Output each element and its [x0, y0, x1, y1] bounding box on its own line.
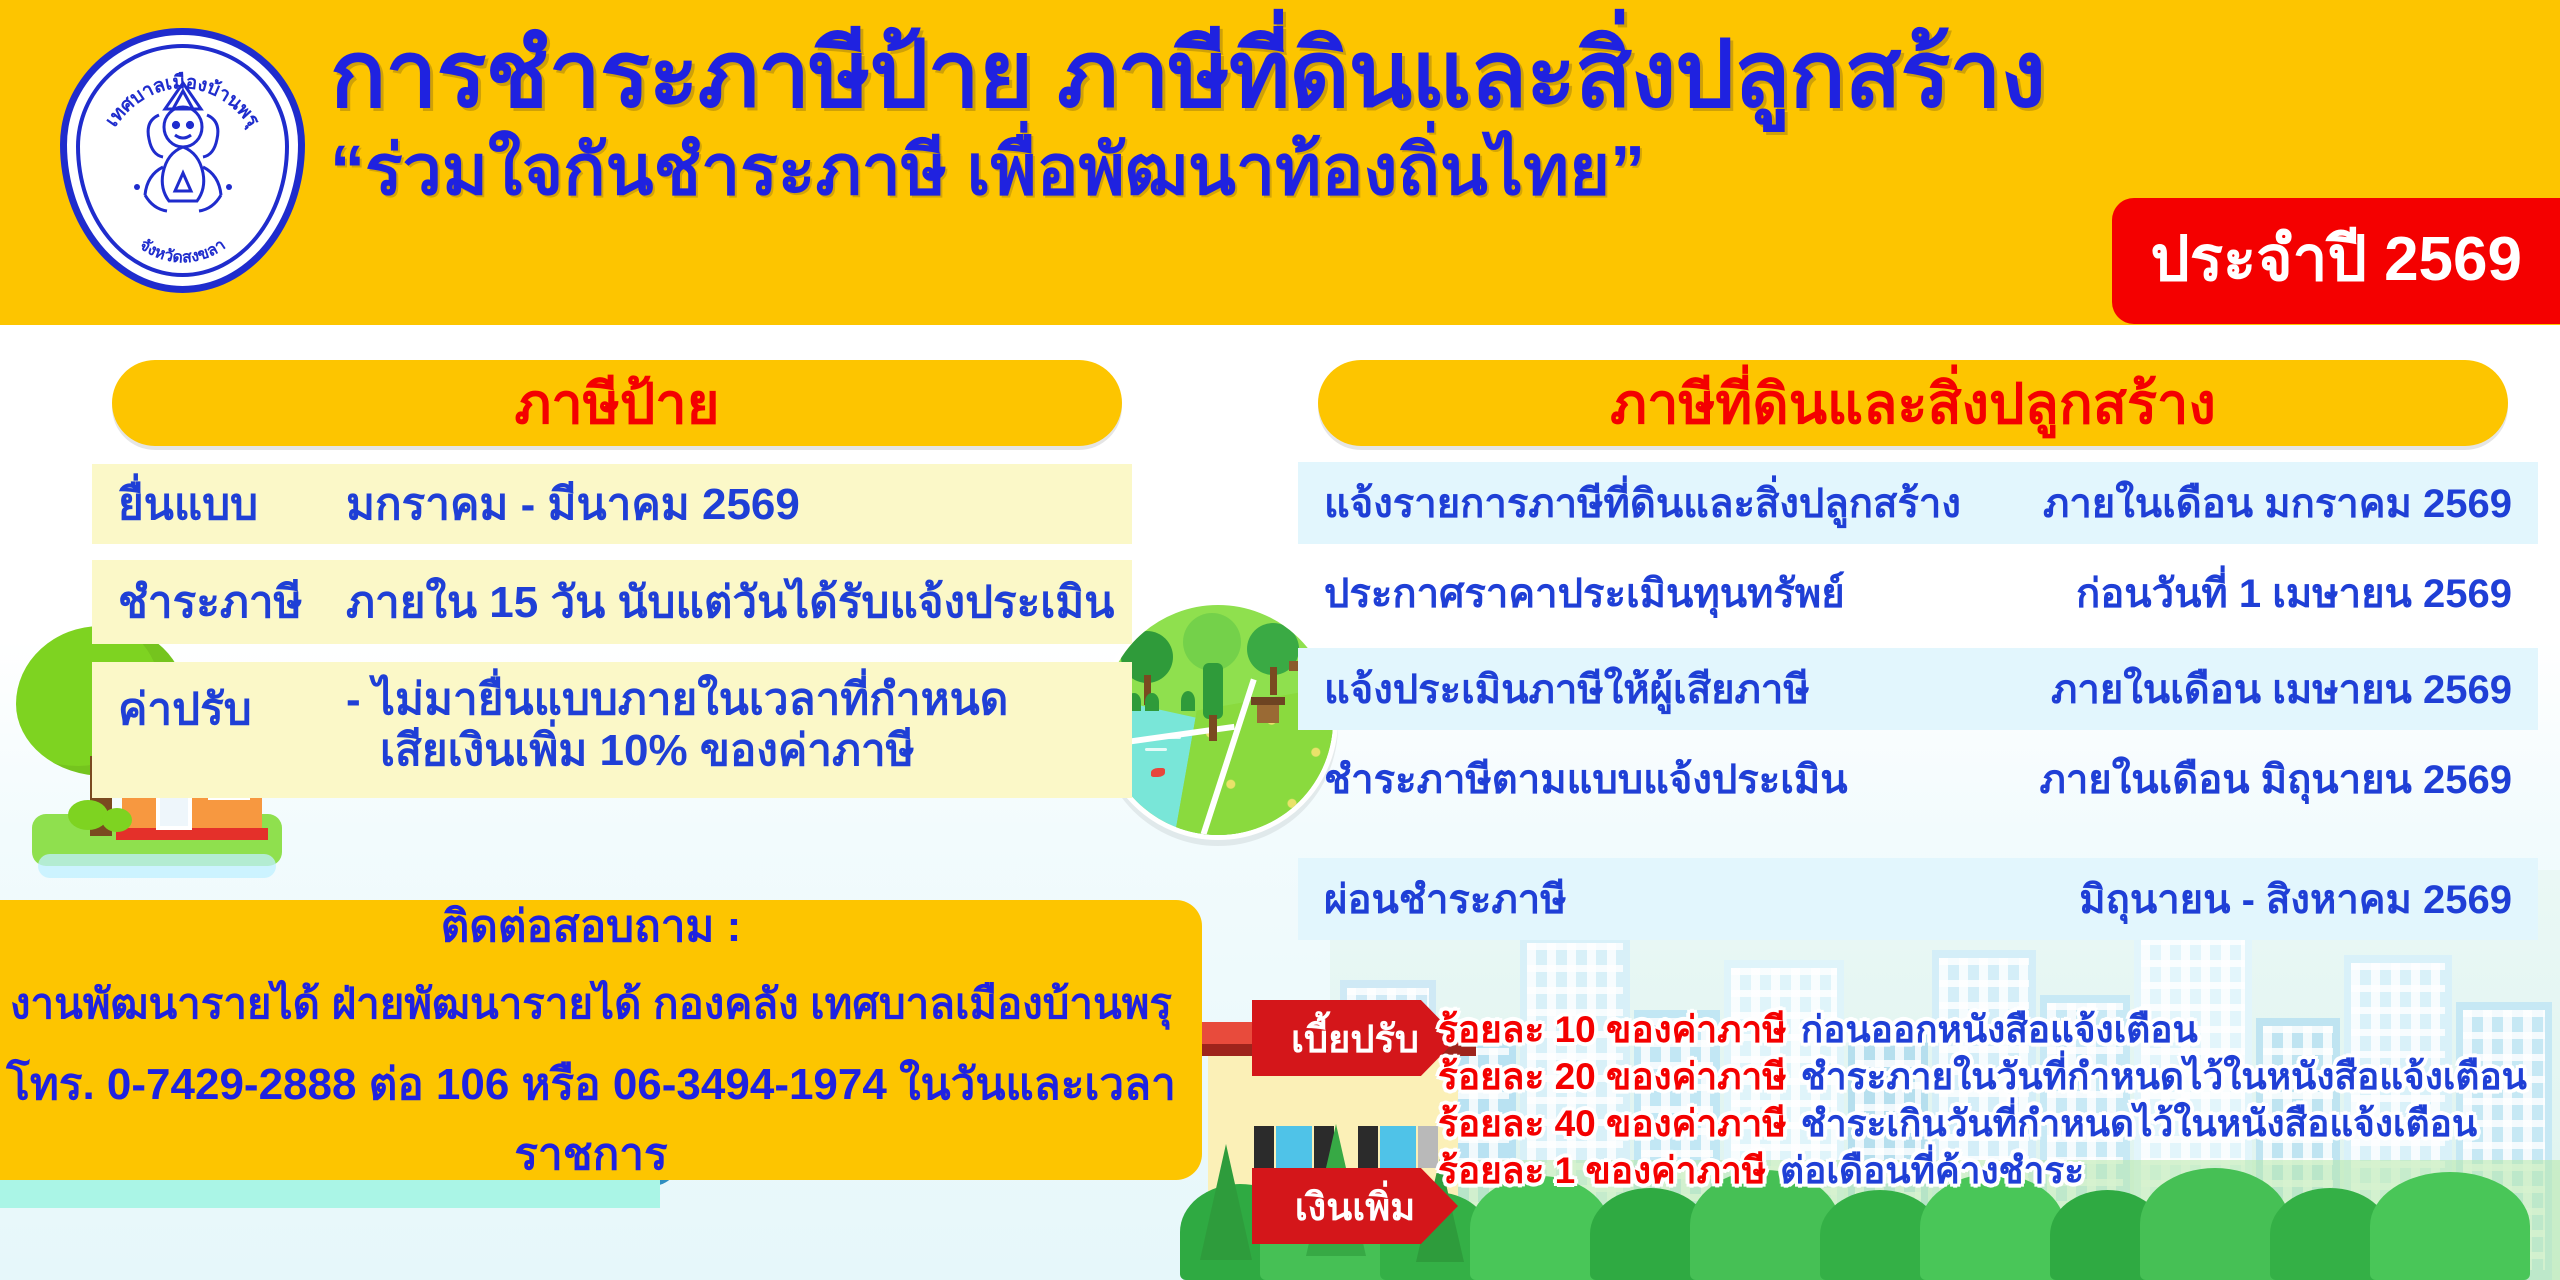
header-text-block: การชำระภาษีป้าย ภาษีที่ดินและสิ่งปลูกสร้…	[330, 26, 2290, 209]
land-tax-row-value: ภายในเดือน เมษายน 2569	[2051, 657, 2512, 721]
tag-penalty-label: เบี้ยปรับ	[1291, 1008, 1419, 1069]
penalty-rate-condition: ต่อเดือนที่ค้างชำระ	[1780, 1141, 2084, 1200]
tag-surcharge: เงินเพิ่ม	[1252, 1168, 1458, 1244]
page-title: การชำระภาษีป้าย ภาษีที่ดินและสิ่งปลูกสร้…	[330, 26, 2290, 124]
sign-tax-row: ค่าปรับ - ไม่มายื่นแบบภายในเวลาที่กำหนด …	[92, 662, 1132, 798]
header-banner: เทศบาลเมืองบ้านพรุ จังหวัดสงขลา	[0, 0, 2560, 325]
land-tax-row-value: ภายในเดือน มิถุนายน 2569	[2039, 747, 2512, 811]
sign-tax-row-label: ยื่นแบบ	[118, 469, 346, 539]
year-badge: ประจำปี 2569	[2112, 198, 2560, 324]
section-heading-sign-tax: ภาษีป้าย	[112, 360, 1122, 446]
section-heading-sign-tax-label: ภาษีป้าย	[514, 359, 719, 448]
section-heading-land-tax: ภาษีที่ดินและสิ่งปลูกสร้าง	[1318, 360, 2508, 446]
sign-tax-row-label: ชำระภาษี	[118, 567, 346, 637]
land-tax-row: ประกาศราคาประเมินทุนทรัพย์ ก่อนวันที่ 1 …	[1298, 552, 2538, 634]
sign-tax-row-value: - ไม่มายื่นแบบภายในเวลาที่กำหนด เสียเงิน…	[346, 674, 1008, 776]
sign-tax-row-value: ภายใน 15 วัน นับแต่วันได้รับแจ้งประเมิน	[346, 567, 1114, 637]
page-subtitle: “ร่วมใจกันชำระภาษี เพื่อพัฒนาท้องถิ่นไทย…	[330, 132, 2290, 209]
sign-tax-row-value: มกราคม - มีนาคม 2569	[346, 469, 800, 539]
sign-tax-row-value-line2: เสียเงินเพิ่ม 10% ของค่าภาษี	[380, 725, 1008, 776]
sign-tax-row: ยื่นแบบ มกราคม - มีนาคม 2569	[92, 464, 1132, 544]
penalty-rate-row: ร้อยละ 10 ของค่าภาษี ก่อนออกหนังสือแจ้งเ…	[1438, 1000, 2558, 1047]
land-tax-row-label: แจ้งประเมินภาษีให้ผู้เสียภาษี	[1324, 657, 1810, 721]
land-tax-row-label: ชำระภาษีตามแบบแจ้งประเมิน	[1324, 747, 1848, 811]
land-tax-row-label: ผ่อนชำระภาษี	[1324, 867, 1567, 931]
land-tax-row-value: ก่อนวันที่ 1 เมษายน 2569	[2076, 561, 2512, 625]
sign-tax-row: ชำระภาษี ภายใน 15 วัน นับแต่วันได้รับแจ้…	[92, 560, 1132, 644]
svg-text:จังหวัดสงขลา: จังหวัดสงขลา	[136, 236, 228, 267]
contact-box: ติดต่อสอบถาม : งานพัฒนารายได้ ฝ่ายพัฒนาร…	[0, 900, 1202, 1180]
penalty-rate-percent: ร้อยละ 1 ของค่าภาษี	[1438, 1141, 1766, 1200]
penalty-rate-row: ร้อยละ 40 ของค่าภาษี ชำระเกินวันที่กำหนด…	[1438, 1094, 2558, 1141]
contact-office: งานพัฒนารายได้ ฝ่ายพัฒนารายได้ กองคลัง เ…	[10, 971, 1172, 1037]
section-heading-land-tax-label: ภาษีที่ดินและสิ่งปลูกสร้าง	[1610, 359, 2216, 448]
land-tax-row: ชำระภาษีตามแบบแจ้งประเมิน ภายในเดือน มิถ…	[1298, 738, 2538, 820]
tag-surcharge-label: เงินเพิ่ม	[1295, 1176, 1416, 1237]
penalty-rate-list: ร้อยละ 10 ของค่าภาษี ก่อนออกหนังสือแจ้งเ…	[1438, 1000, 2558, 1190]
land-tax-row-label: ประกาศราคาประเมินทุนทรัพย์	[1324, 561, 1845, 625]
contact-heading: ติดต่อสอบถาม :	[441, 891, 742, 961]
land-tax-row: แจ้งประเมินภาษีให้ผู้เสียภาษี ภายในเดือน…	[1298, 648, 2538, 730]
land-tax-row: แจ้งรายการภาษีที่ดินและสิ่งปลูกสร้าง ภาย…	[1298, 462, 2538, 544]
municipal-seal-logo: เทศบาลเมืองบ้านพรุ จังหวัดสงขลา	[60, 28, 305, 293]
contact-phone: โทร. 0-7429-2888 ต่อ 106 หรือ 06-3494-19…	[0, 1049, 1202, 1189]
land-tax-row-value: มิถุนายน - สิงหาคม 2569	[2079, 867, 2512, 931]
sign-tax-row-value-line1: - ไม่มายื่นแบบภายในเวลาที่กำหนด	[346, 674, 1008, 725]
land-tax-row-label: แจ้งรายการภาษีที่ดินและสิ่งปลูกสร้าง	[1324, 471, 1961, 535]
tag-penalty: เบี้ยปรับ	[1252, 1000, 1458, 1076]
sign-tax-row-label: ค่าปรับ	[118, 674, 346, 744]
land-tax-row: ผ่อนชำระภาษี มิถุนายน - สิงหาคม 2569	[1298, 858, 2538, 940]
poster-root: เทศบาลเมืองบ้านพรุ จังหวัดสงขลา	[0, 0, 2560, 1280]
penalty-rate-row: ร้อยละ 20 ของค่าภาษี ชำระภายในวันที่กำหน…	[1438, 1047, 2558, 1094]
seal-bottom-text: จังหวัดสงขลา	[136, 236, 228, 267]
land-tax-row-value: ภายในเดือน มกราคม 2569	[2043, 471, 2512, 535]
seal-deity-figure	[123, 75, 243, 225]
